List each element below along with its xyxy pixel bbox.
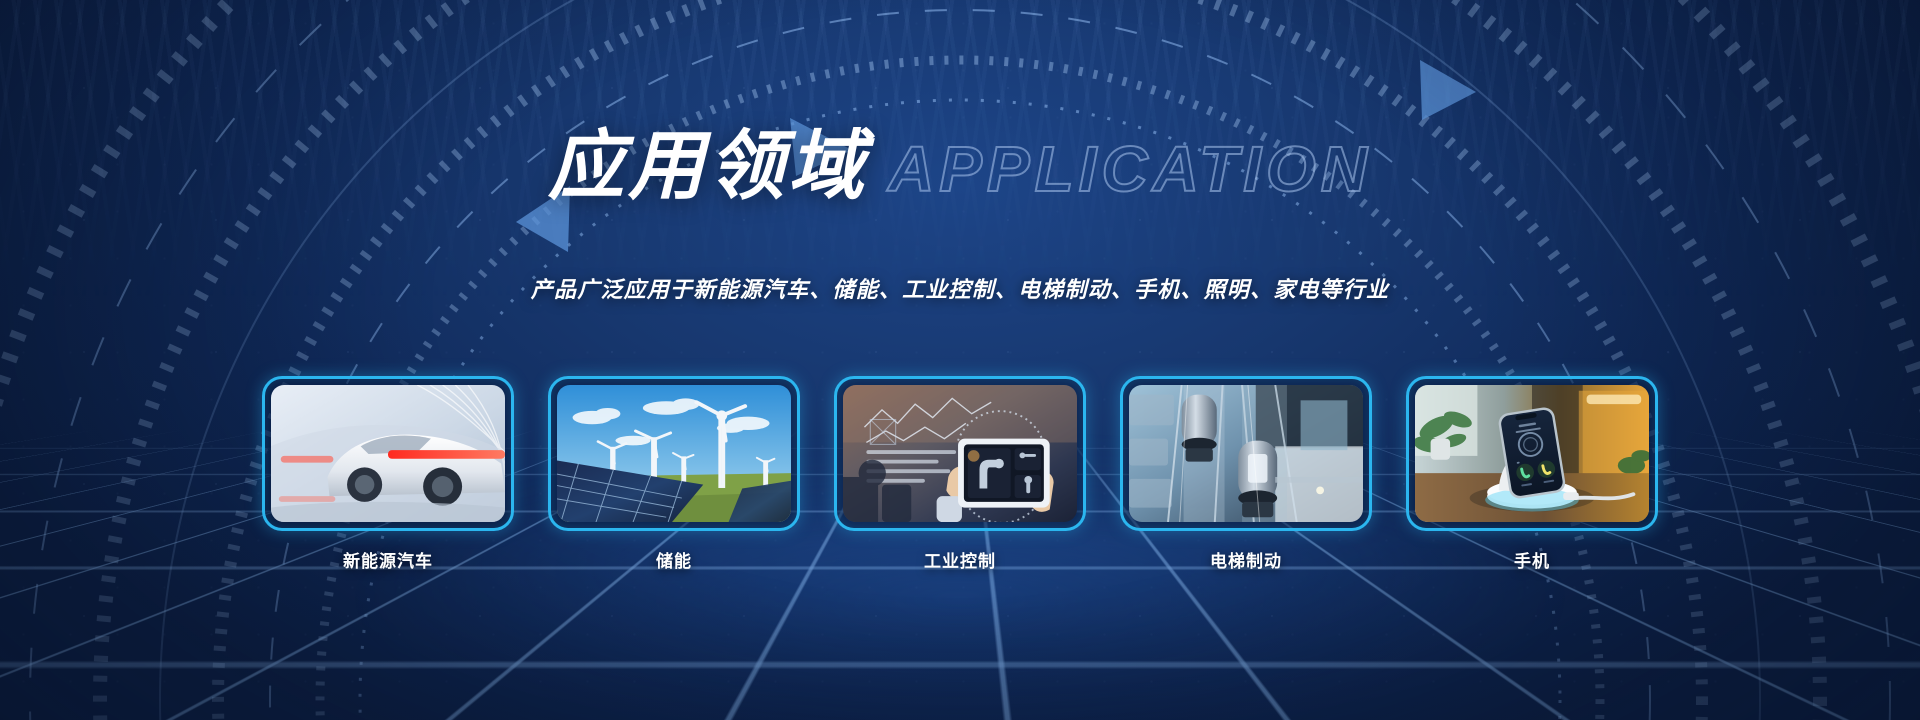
application-banner: 应用领域 APPLICATION 产品广泛应用于新能源汽车、储能、工业控制、电梯…: [0, 0, 1920, 720]
card-frame: [262, 376, 514, 531]
card-label: 新能源汽车: [343, 547, 433, 572]
new-energy-vehicle-photo: [271, 385, 505, 522]
card-frame: [1406, 376, 1658, 531]
application-card-industrial-control[interactable]: 工业控制: [834, 376, 1086, 572]
elevator-braking-photo: [1129, 385, 1363, 522]
application-card-elevator-braking[interactable]: 电梯制动: [1120, 376, 1372, 572]
perspective-grid-floor: [0, 0, 1920, 430]
application-card-new-energy-vehicle[interactable]: 新能源汽车: [262, 376, 514, 572]
card-label: 电梯制动: [1210, 547, 1282, 572]
page-title-cn: 应用领域: [548, 128, 868, 204]
banner-headline: 应用领域 APPLICATION: [0, 128, 1920, 204]
card-frame: [1120, 376, 1372, 531]
banner-subtitle: 产品广泛应用于新能源汽车、储能、工业控制、电梯制动、手机、照明、家电等行业: [0, 272, 1920, 304]
card-frame: [548, 376, 800, 531]
page-title-en: APPLICATION: [888, 137, 1372, 201]
card-label: 手机: [1514, 547, 1550, 572]
card-label: 工业控制: [924, 547, 996, 572]
energy-storage-photo: [557, 385, 791, 522]
vignette-overlay: [0, 0, 1920, 720]
industrial-control-photo: [843, 385, 1077, 522]
mobile-phone-photo: [1415, 385, 1649, 522]
application-card-energy-storage[interactable]: 储能: [548, 376, 800, 572]
dot-texture-layer: [0, 0, 1920, 720]
card-frame: [834, 376, 1086, 531]
card-label: 储能: [656, 547, 692, 572]
application-card-list: 新能源汽车: [0, 376, 1920, 572]
application-card-mobile-phone[interactable]: 手机: [1406, 376, 1658, 572]
